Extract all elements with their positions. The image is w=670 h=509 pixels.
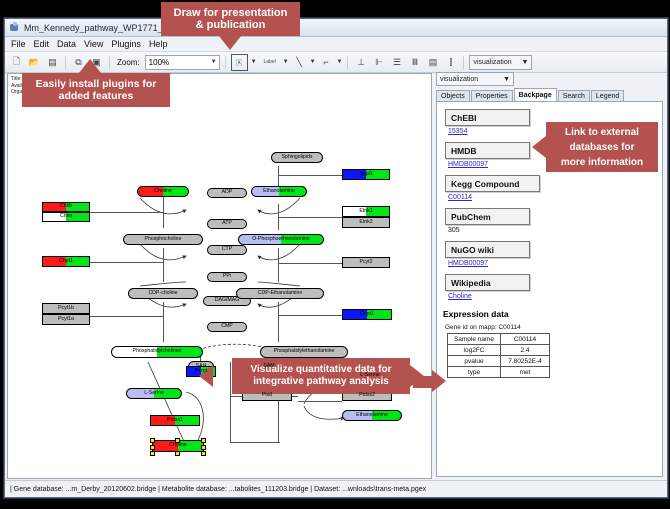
edge-ptdethn-left (230, 362, 231, 442)
node-label: Choline (154, 189, 172, 194)
metabolite-ethanolamine-top[interactable]: Ethanolamine (251, 186, 307, 197)
edge-chpt1-link (90, 262, 164, 263)
expression-data-heading: Expression data (443, 309, 662, 319)
window-titlebar: Mm_Kennedy_pathway_WP1771_45176.gpml (5, 19, 667, 37)
node-label: CDP-Ethanolamine (258, 291, 302, 296)
chevron-down-icon[interactable]: ▼ (211, 59, 217, 65)
label-tool-icon[interactable]: Label (260, 55, 280, 70)
node-label: L-Serine (144, 391, 164, 396)
tab-label: Properties (476, 93, 508, 100)
cell-value: 2.4 (501, 345, 550, 356)
node-label: Ethanolamine (263, 189, 295, 194)
node-label: CMP (221, 324, 233, 329)
callout-line: databases for (569, 140, 634, 155)
edge-sphingo-etn (278, 166, 279, 186)
statusbar: | Gene database: ...m_Derby_20120602.bri… (5, 480, 667, 497)
menu-item-plugins[interactable]: Plugins (111, 39, 141, 49)
db-link-kegg[interactable]: C00114 (448, 194, 662, 201)
edge-phosphocholine-cdp (163, 248, 164, 282)
visualization-value: visualization (473, 59, 511, 66)
gene-pcyt2[interactable]: Pcyt2 (342, 257, 390, 268)
callout-line: Link to external (565, 125, 639, 140)
node-label: Sgpl1 (359, 172, 372, 177)
distribute-vertical-icon[interactable]: ☰ (389, 55, 404, 70)
node-label: Pcyt1b (58, 306, 74, 311)
cell-key: Sample name (448, 334, 501, 345)
edge-pethn-cdpethn (278, 248, 279, 282)
db-link-wikipedia[interactable]: Choline (448, 293, 662, 300)
tab-label: Backpage (519, 92, 552, 99)
db-name: HMDB (451, 146, 477, 156)
metabolite-cmp[interactable]: CMP (207, 322, 247, 332)
node-label: Choline (169, 443, 187, 448)
node-label: Cept1 (360, 312, 374, 317)
receptor-tool-icon[interactable]: ⌐ (319, 55, 334, 70)
chevron-down-icon[interactable]: ▼ (283, 59, 289, 65)
metabolite-sphingolipids[interactable]: Sphingolipids (271, 152, 323, 163)
node-label: ATP (222, 221, 232, 226)
menubar: File Edit Data View Plugins Help (5, 37, 667, 52)
chevron-down-icon[interactable]: ▼ (310, 59, 316, 65)
gene-cept1[interactable]: Cept1 (342, 309, 392, 320)
gene-ptdss1[interactable]: Ptdss1 (150, 415, 200, 426)
table-row: log2FC 2.4 (448, 345, 550, 356)
node-label: Etnk1 (359, 209, 372, 214)
metabolite-ctp[interactable]: CTP (207, 245, 247, 255)
chevron-down-icon[interactable]: ▼ (503, 76, 510, 83)
node-label: Pcyt2 (360, 260, 373, 265)
selection-handle[interactable] (150, 445, 155, 450)
node-label: Pemt (195, 369, 207, 374)
edge-sgpl1-link (278, 175, 342, 176)
node-label: PPi (223, 274, 231, 279)
db-name: NuGO wiki (451, 245, 494, 255)
callout-arrow-up-icon (79, 59, 101, 73)
callout-line: Draw for presentation (174, 7, 288, 19)
chevron-down-icon[interactable]: ▼ (522, 59, 529, 66)
same-width-icon[interactable]: Ⅲ (407, 55, 422, 70)
node-label: Pcyt1a (58, 317, 74, 322)
gene-chpt1[interactable]: Chpt1 (42, 256, 90, 267)
edge-cdpethn-ptdethn (278, 302, 279, 342)
db-link-nugo[interactable]: HMDB00097 (448, 260, 662, 267)
callout-arrow-down-icon (219, 36, 241, 50)
callout-install-plugins: Easily install plugins for added feature… (22, 73, 170, 107)
datanode-tool-icon[interactable]: 🄰 (231, 54, 248, 71)
visualization-combo[interactable]: visualization ▼ (469, 55, 532, 70)
gene-pcyt1b[interactable]: Pcyt1b (42, 303, 90, 314)
save-file-icon[interactable]: ▤ (45, 55, 60, 70)
node-label: Etnk2 (359, 220, 372, 225)
new-file-icon[interactable]: 🗋 (9, 55, 24, 70)
selection-handle[interactable] (150, 438, 155, 443)
metabolite-phosphatidylcholines[interactable]: Phosphatidylcholines (111, 346, 203, 358)
selection-handle[interactable] (201, 438, 206, 443)
visualization-selector[interactable]: visualization ▼ (436, 72, 514, 86)
gene-id-line: Gene id on mapp: C00114 (445, 324, 662, 331)
selection-handle[interactable] (175, 451, 180, 456)
node-label: DAG/MAG (215, 298, 240, 303)
node-label: Sphingolipids (282, 155, 313, 160)
gene-etnk2[interactable]: Etnk2 (342, 217, 390, 228)
menu-item-edit[interactable]: Edit (34, 39, 50, 49)
node-label: Chpt1 (59, 259, 73, 264)
node-label: Ptdss1 (167, 418, 183, 423)
metabolite-o-phosphoethanolamine[interactable]: O-Phosphoethanolamine (238, 234, 324, 245)
metabolite-cdp-choline[interactable]: CDP-choline (128, 288, 198, 299)
node-label: ADP (222, 190, 233, 195)
toolbar-separator (347, 56, 348, 69)
node-label: Phosphatidylcholines (133, 349, 182, 354)
tab-label: Objects (441, 93, 465, 100)
node-label: Phosphocholine (145, 237, 182, 242)
db-header-hmdb: HMDB (445, 142, 530, 159)
tab-label: Legend (596, 93, 619, 100)
node-label: Chkb (60, 204, 72, 209)
cell-key: pvalue (448, 356, 501, 367)
visualization-selector-value: visualization (440, 76, 478, 83)
pathway-canvas[interactable]: Title: Availa Organi (7, 73, 432, 479)
align-top-icon[interactable]: ⊥ (353, 55, 368, 70)
table-row: pvalue 7.80252E-4 (448, 356, 550, 367)
menu-item-data[interactable]: Data (57, 39, 76, 49)
db-name: ChEBI (451, 113, 477, 123)
db-header-pubchem: PubChem (445, 208, 530, 225)
db-header-chebi: ChEBI (445, 109, 530, 126)
node-label: Ethanolamine (356, 413, 388, 418)
chevron-down-icon[interactable]: ▼ (337, 59, 343, 65)
gene-pcyt1a[interactable]: Pcyt1a (42, 314, 90, 325)
node-label: Phosphatidylethanolamine (274, 349, 335, 354)
metabolite-choline-top[interactable]: Choline (137, 186, 189, 197)
tab-label: Search (563, 93, 585, 100)
table-row: type met (448, 367, 550, 378)
node-label: L-Serine (360, 373, 380, 378)
node-label: O-Phosphoethanolamine (252, 237, 309, 242)
callout-line: more information (561, 155, 643, 170)
callout-line: added features (59, 90, 134, 102)
stack-icon[interactable]: ⫿ (443, 55, 458, 70)
callout-arrow-right-icon (432, 370, 446, 392)
edge-etnk-link (278, 217, 342, 218)
cell-value: met (501, 367, 550, 378)
zoom-value: 100% (149, 58, 169, 67)
metabolite-ethanolamine-bottom[interactable]: Ethanolamine (342, 410, 402, 421)
statusbar-text: | Gene database: ...m_Derby_20120602.bri… (5, 486, 426, 493)
metabolite-ppi[interactable]: PPi (207, 272, 247, 282)
node-label: Pisd (262, 393, 272, 398)
node-label: CTP (222, 247, 232, 252)
callout-line: & publication (196, 19, 266, 31)
selection-handle[interactable] (150, 451, 155, 456)
metabolite-cdp-ethanolamine[interactable]: CDP-Ethanolamine (236, 288, 324, 299)
node-label: Chka (60, 214, 72, 219)
gene-sgpl1[interactable]: Sgpl1 (342, 169, 390, 180)
db-header-wikipedia: Wikipedia (445, 274, 530, 291)
app-icon (9, 22, 20, 33)
toolbar: 🗋 📂 ▤ ⧉ ▣ Zoom: 100% ▼ 🄰 ▼ Label ▼ ╲ ▼ ⌐… (5, 52, 667, 73)
selection-handle[interactable] (201, 451, 206, 456)
edge-pcyt1-link (90, 316, 164, 317)
menu-item-help[interactable]: Help (149, 39, 168, 49)
expression-table: Sample name C00114 log2FC 2.4 pvalue 7.8… (447, 333, 550, 378)
callout-draw-for-publication: Draw for presentation & publication (161, 2, 300, 36)
edge-cdp-ptdcho (163, 302, 164, 342)
cell-key: log2FC (448, 345, 501, 356)
line-tool-icon[interactable]: ╲ (292, 55, 307, 70)
edge-pcyt2-link (278, 263, 342, 264)
edge-chk-link (90, 212, 164, 213)
align-left-icon[interactable]: ⊩ (371, 55, 386, 70)
node-label: SAM (263, 364, 274, 369)
metabolite-adp[interactable]: ADP (207, 188, 247, 198)
gene-etnk1[interactable]: Etnk1 (342, 206, 390, 217)
cell-value: 7.80252E-4 (501, 356, 550, 367)
callout-visualize-data: Visualize quantitative data for integrat… (232, 358, 410, 394)
metabolite-phosphocholine[interactable]: Phosphocholine (123, 234, 203, 245)
edge-bottom-join (230, 442, 280, 443)
toolbar-separator (225, 56, 226, 69)
db-header-nugo-wiki: NuGO wiki (445, 241, 530, 258)
edge-cept1-link (278, 315, 342, 316)
node-label: Ptdss2 (359, 393, 375, 398)
metabolite-atp[interactable]: ATP (207, 219, 247, 229)
db-name: Kegg Compound (451, 179, 519, 189)
db-value-pubchem: 305 (448, 227, 662, 234)
menu-item-file[interactable]: File (11, 39, 26, 49)
callout-arrow-left-icon (532, 136, 546, 158)
metabolite-l-serine-left[interactable]: L-Serine (126, 388, 182, 399)
cell-key: type (448, 367, 501, 378)
gene-chka[interactable]: Chka (42, 212, 90, 222)
db-name: Wikipedia (451, 278, 491, 288)
chevron-down-icon[interactable]: ▼ (251, 59, 257, 65)
tab-backpage[interactable]: Backpage (514, 88, 557, 102)
table-row: Sample name C00114 (448, 334, 550, 345)
toolbar-separator (463, 56, 464, 69)
zoom-label: Zoom: (117, 58, 140, 67)
menu-item-view[interactable]: View (84, 39, 103, 49)
callout-external-links: Link to external databases for more info… (546, 122, 658, 172)
selection-handle[interactable] (201, 445, 206, 450)
open-file-icon[interactable]: 📂 (27, 55, 42, 70)
zoom-input[interactable]: 100% ▼ (145, 55, 220, 70)
toolbar-separator (109, 56, 110, 69)
gene-chkb[interactable]: Chkb (42, 202, 90, 212)
screenshot-frame: Mm_Kennedy_pathway_WP1771_45176.gpml Fil… (0, 0, 670, 509)
db-header-kegg-compound: Kegg Compound (445, 175, 540, 192)
toolbar-separator (65, 56, 66, 69)
metabolite-phosphatidylethanolamine[interactable]: Phosphatidylethanolamine (260, 346, 348, 358)
callout-line: Easily install plugins for (36, 78, 157, 90)
edge-ptdss2-link (298, 401, 342, 402)
db-name: PubChem (451, 212, 491, 222)
node-label: CDP-choline (148, 291, 177, 296)
same-height-icon[interactable]: ▤ (425, 55, 440, 70)
cell-value: C00114 (501, 334, 550, 345)
